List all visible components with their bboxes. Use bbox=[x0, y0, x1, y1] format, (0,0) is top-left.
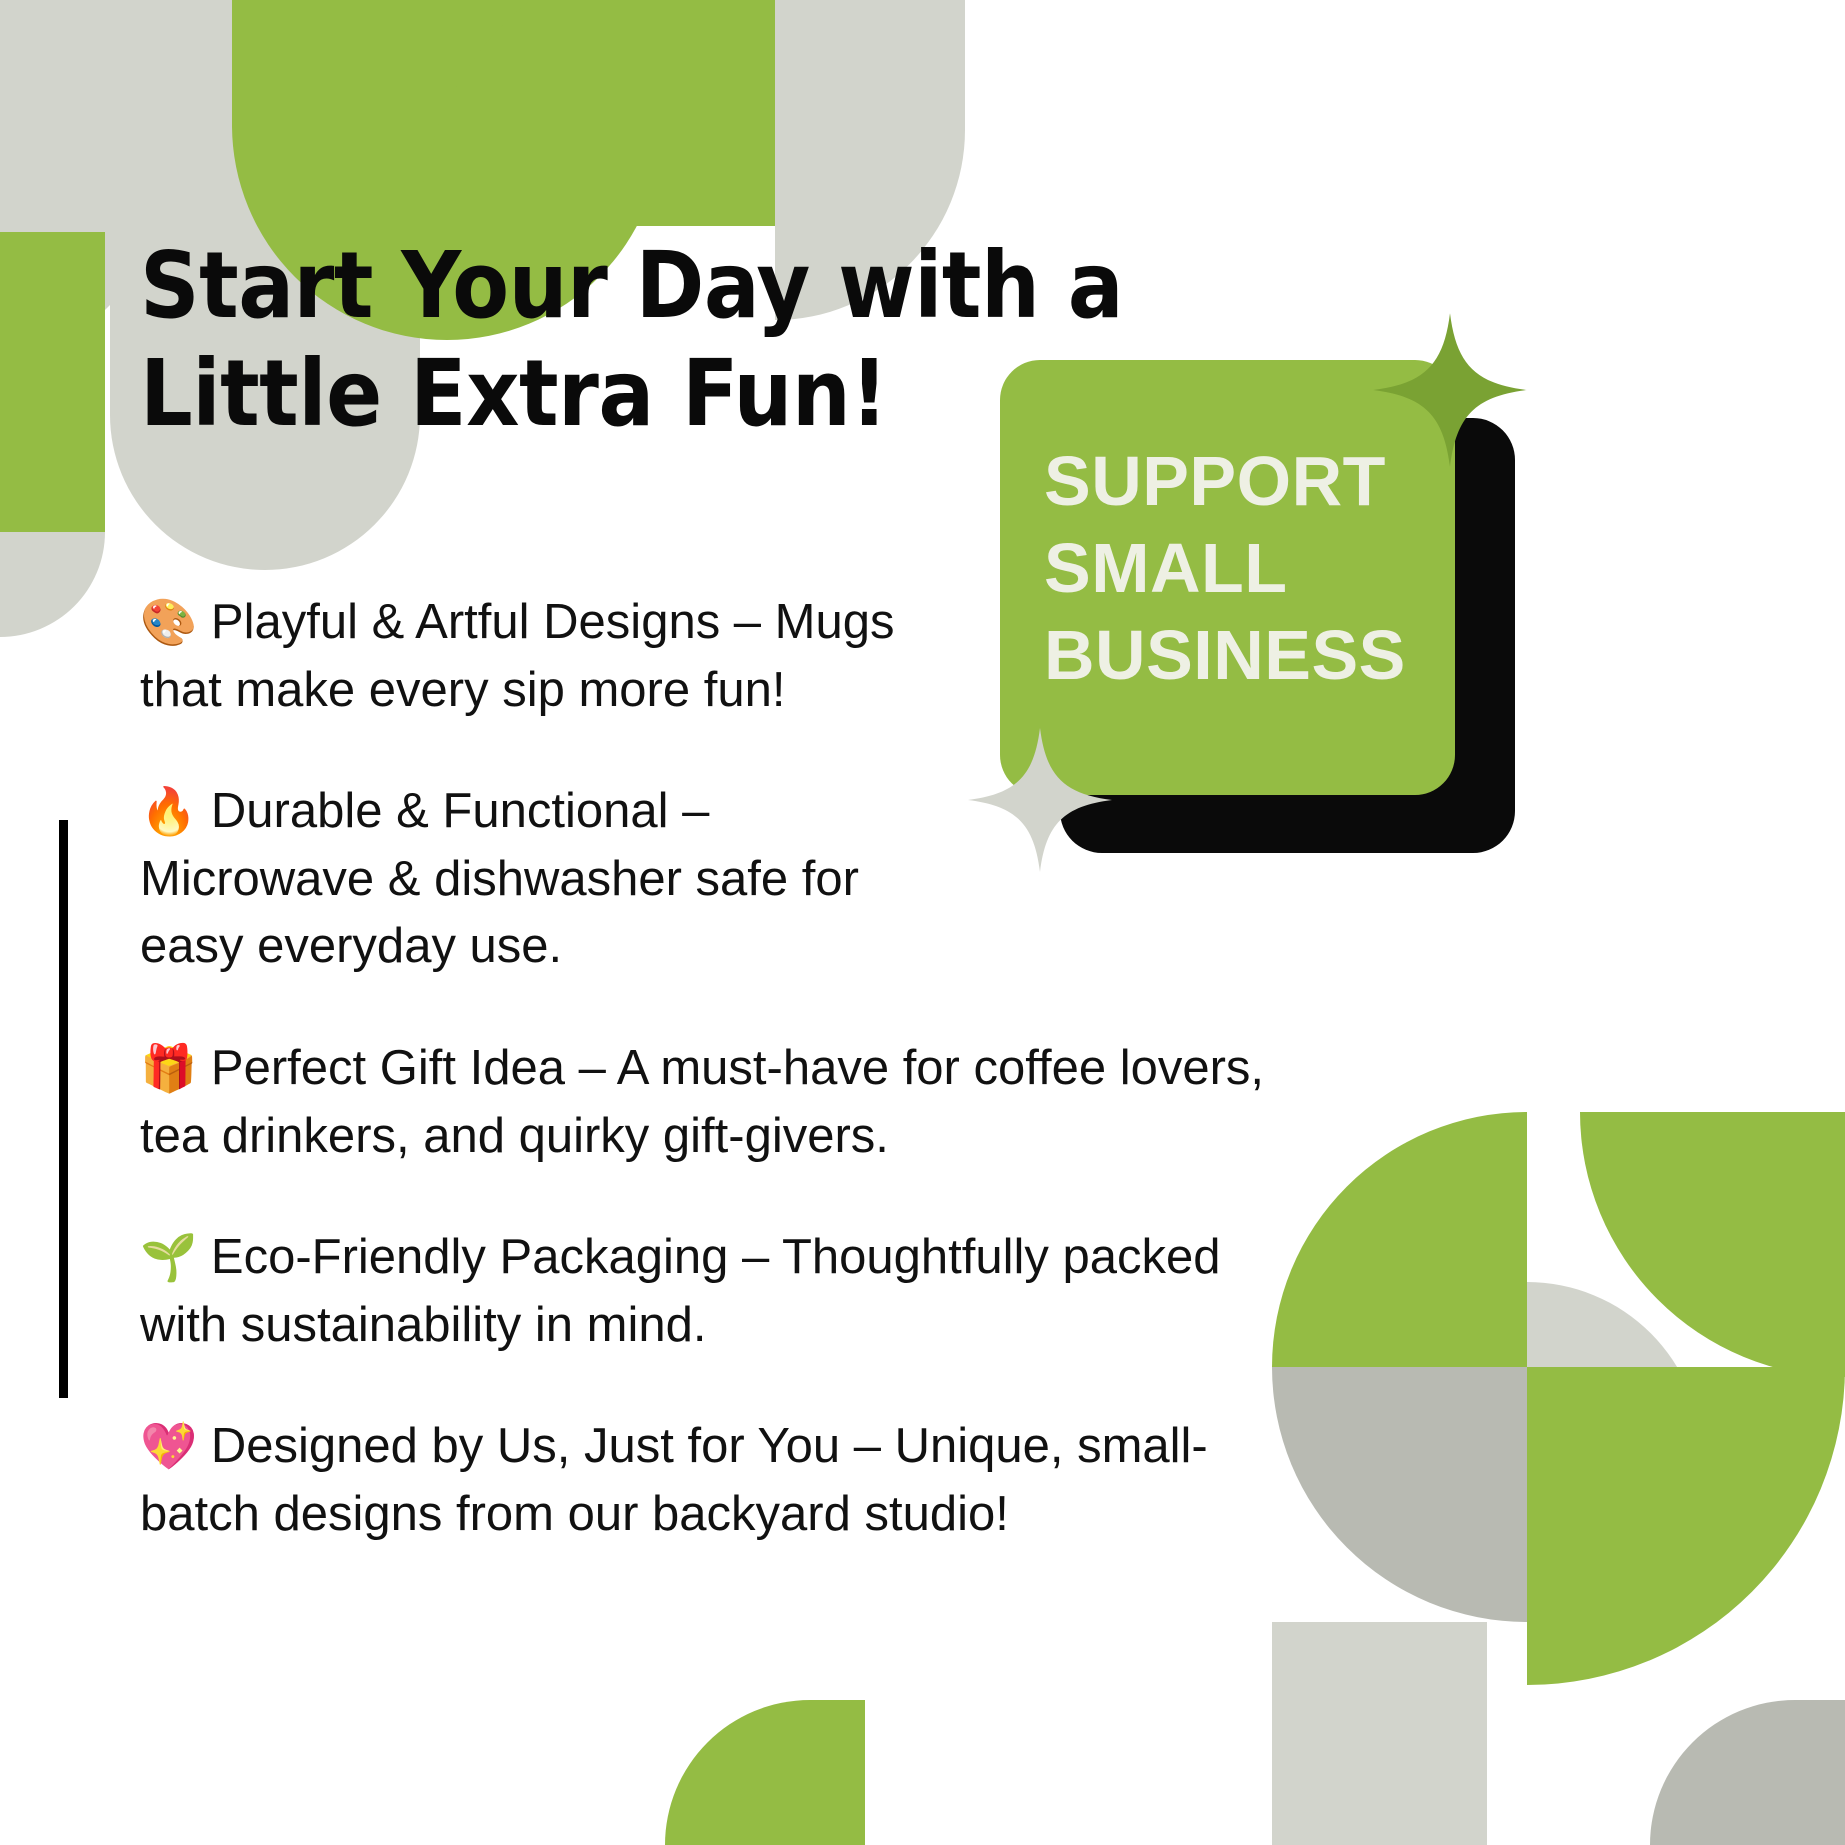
list-item-text: Eco-Friendly Packaging – Thoughtfully pa… bbox=[140, 1230, 1221, 1352]
headline-line-1: Start Your Day with a bbox=[140, 232, 1200, 340]
poster-canvas: Start Your Day with a Little Extra Fun! … bbox=[0, 0, 1845, 1845]
list-item: 🔥 Durable & Functional – Microwave & dis… bbox=[140, 778, 930, 981]
seedling-emoji: 🌱 bbox=[140, 1231, 197, 1283]
list-item: 🎁 Perfect Gift Idea – A must-have for co… bbox=[140, 1035, 1270, 1170]
poster-content: Start Your Day with a Little Extra Fun! … bbox=[0, 0, 1845, 1845]
wrapped-gift-emoji: 🎁 bbox=[140, 1042, 197, 1094]
badge-line-3: BUSINESS bbox=[1044, 612, 1424, 699]
list-item: 🌱 Eco-Friendly Packaging – Thoughtfully … bbox=[140, 1224, 1300, 1359]
badge-line-1: SUPPORT bbox=[1044, 438, 1424, 525]
artist-palette-emoji: 🎨 bbox=[140, 596, 197, 648]
support-small-business-badge: SUPPORT SMALL BUSINESS bbox=[1000, 360, 1520, 860]
badge-line-2: SMALL bbox=[1044, 525, 1424, 612]
list-item-text: Perfect Gift Idea – A must-have for coff… bbox=[140, 1041, 1264, 1163]
four-point-star-icon bbox=[965, 725, 1115, 875]
badge-text: SUPPORT SMALL BUSINESS bbox=[1044, 438, 1424, 698]
list-item: 💖 Designed by Us, Just for You – Unique,… bbox=[140, 1413, 1270, 1548]
list-item-text: Playful & Artful Designs – Mugs that mak… bbox=[140, 595, 895, 717]
fire-emoji: 🔥 bbox=[140, 785, 197, 837]
list-item: 🎨 Playful & Artful Designs – Mugs that m… bbox=[140, 589, 930, 724]
list-item-text: Designed by Us, Just for You – Unique, s… bbox=[140, 1419, 1208, 1541]
list-item-text: Durable & Functional – Microwave & dishw… bbox=[140, 784, 859, 973]
sparkling-heart-emoji: 💖 bbox=[140, 1420, 197, 1472]
